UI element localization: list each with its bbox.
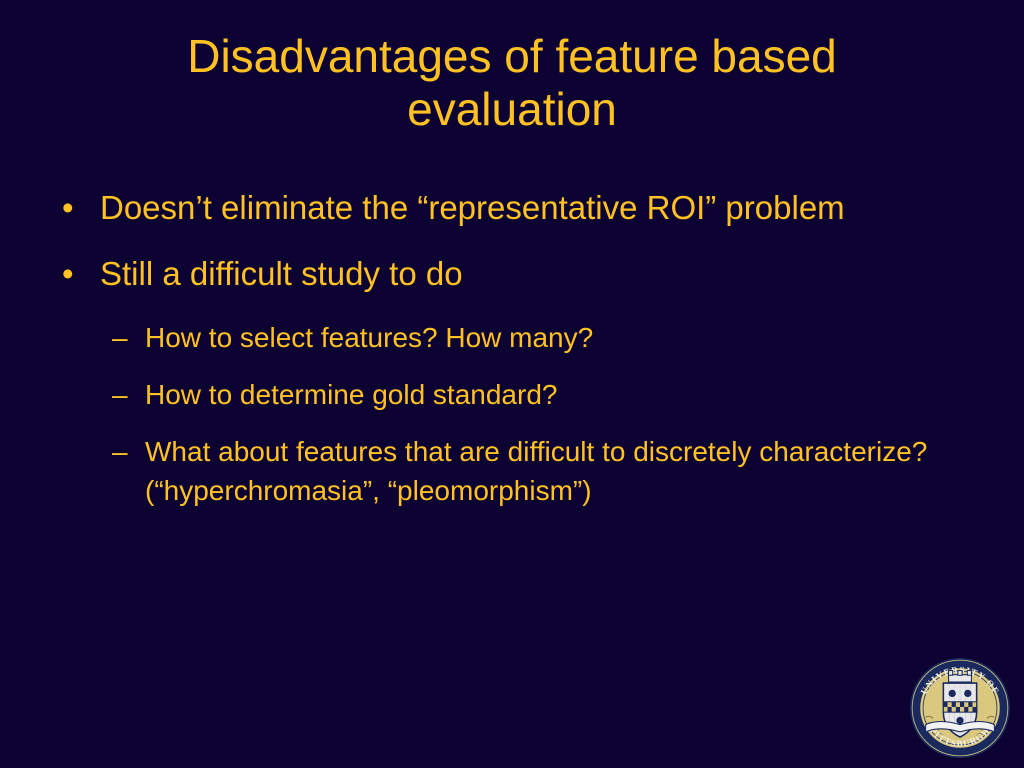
list-item-text: Still a difficult study to do	[100, 252, 1005, 296]
university-of-pittsburgh-seal-icon: UNIVERSITY OF PITTSBURGH	[908, 656, 1012, 760]
bullet-dot-icon: •	[62, 186, 74, 230]
bullet-list: • Doesn’t eliminate the “representative …	[0, 186, 1024, 528]
seal-castle-icon	[949, 671, 972, 682]
university-seal-logo: UNIVERSITY OF PITTSBURGH	[908, 656, 1012, 760]
list-item-text: Doesn’t eliminate the “representative RO…	[100, 186, 1005, 230]
list-item: – What about features that are difficult…	[0, 432, 1024, 510]
bullet-dash-icon: –	[112, 318, 128, 357]
bullet-dash-icon: –	[112, 432, 128, 471]
list-item-text: How to select features? How many?	[145, 318, 1024, 357]
bullet-dash-icon: –	[112, 375, 128, 414]
slide-canvas: Disadvantages of feature based evaluatio…	[0, 0, 1024, 768]
list-item: – How to determine gold standard?	[0, 375, 1024, 414]
list-item: • Still a difficult study to do	[0, 252, 1005, 296]
bullet-dot-icon: •	[62, 252, 74, 296]
list-item-text: How to determine gold standard?	[145, 375, 1024, 414]
page-title: Disadvantages of feature based evaluatio…	[62, 30, 962, 136]
title-line-1: Disadvantages of feature based	[62, 30, 962, 83]
list-item: • Doesn’t eliminate the “representative …	[0, 186, 1005, 230]
title-line-2: evaluation	[62, 83, 962, 136]
list-item-text: What about features that are difficult t…	[145, 432, 1024, 510]
list-item: – How to select features? How many?	[0, 318, 1024, 357]
